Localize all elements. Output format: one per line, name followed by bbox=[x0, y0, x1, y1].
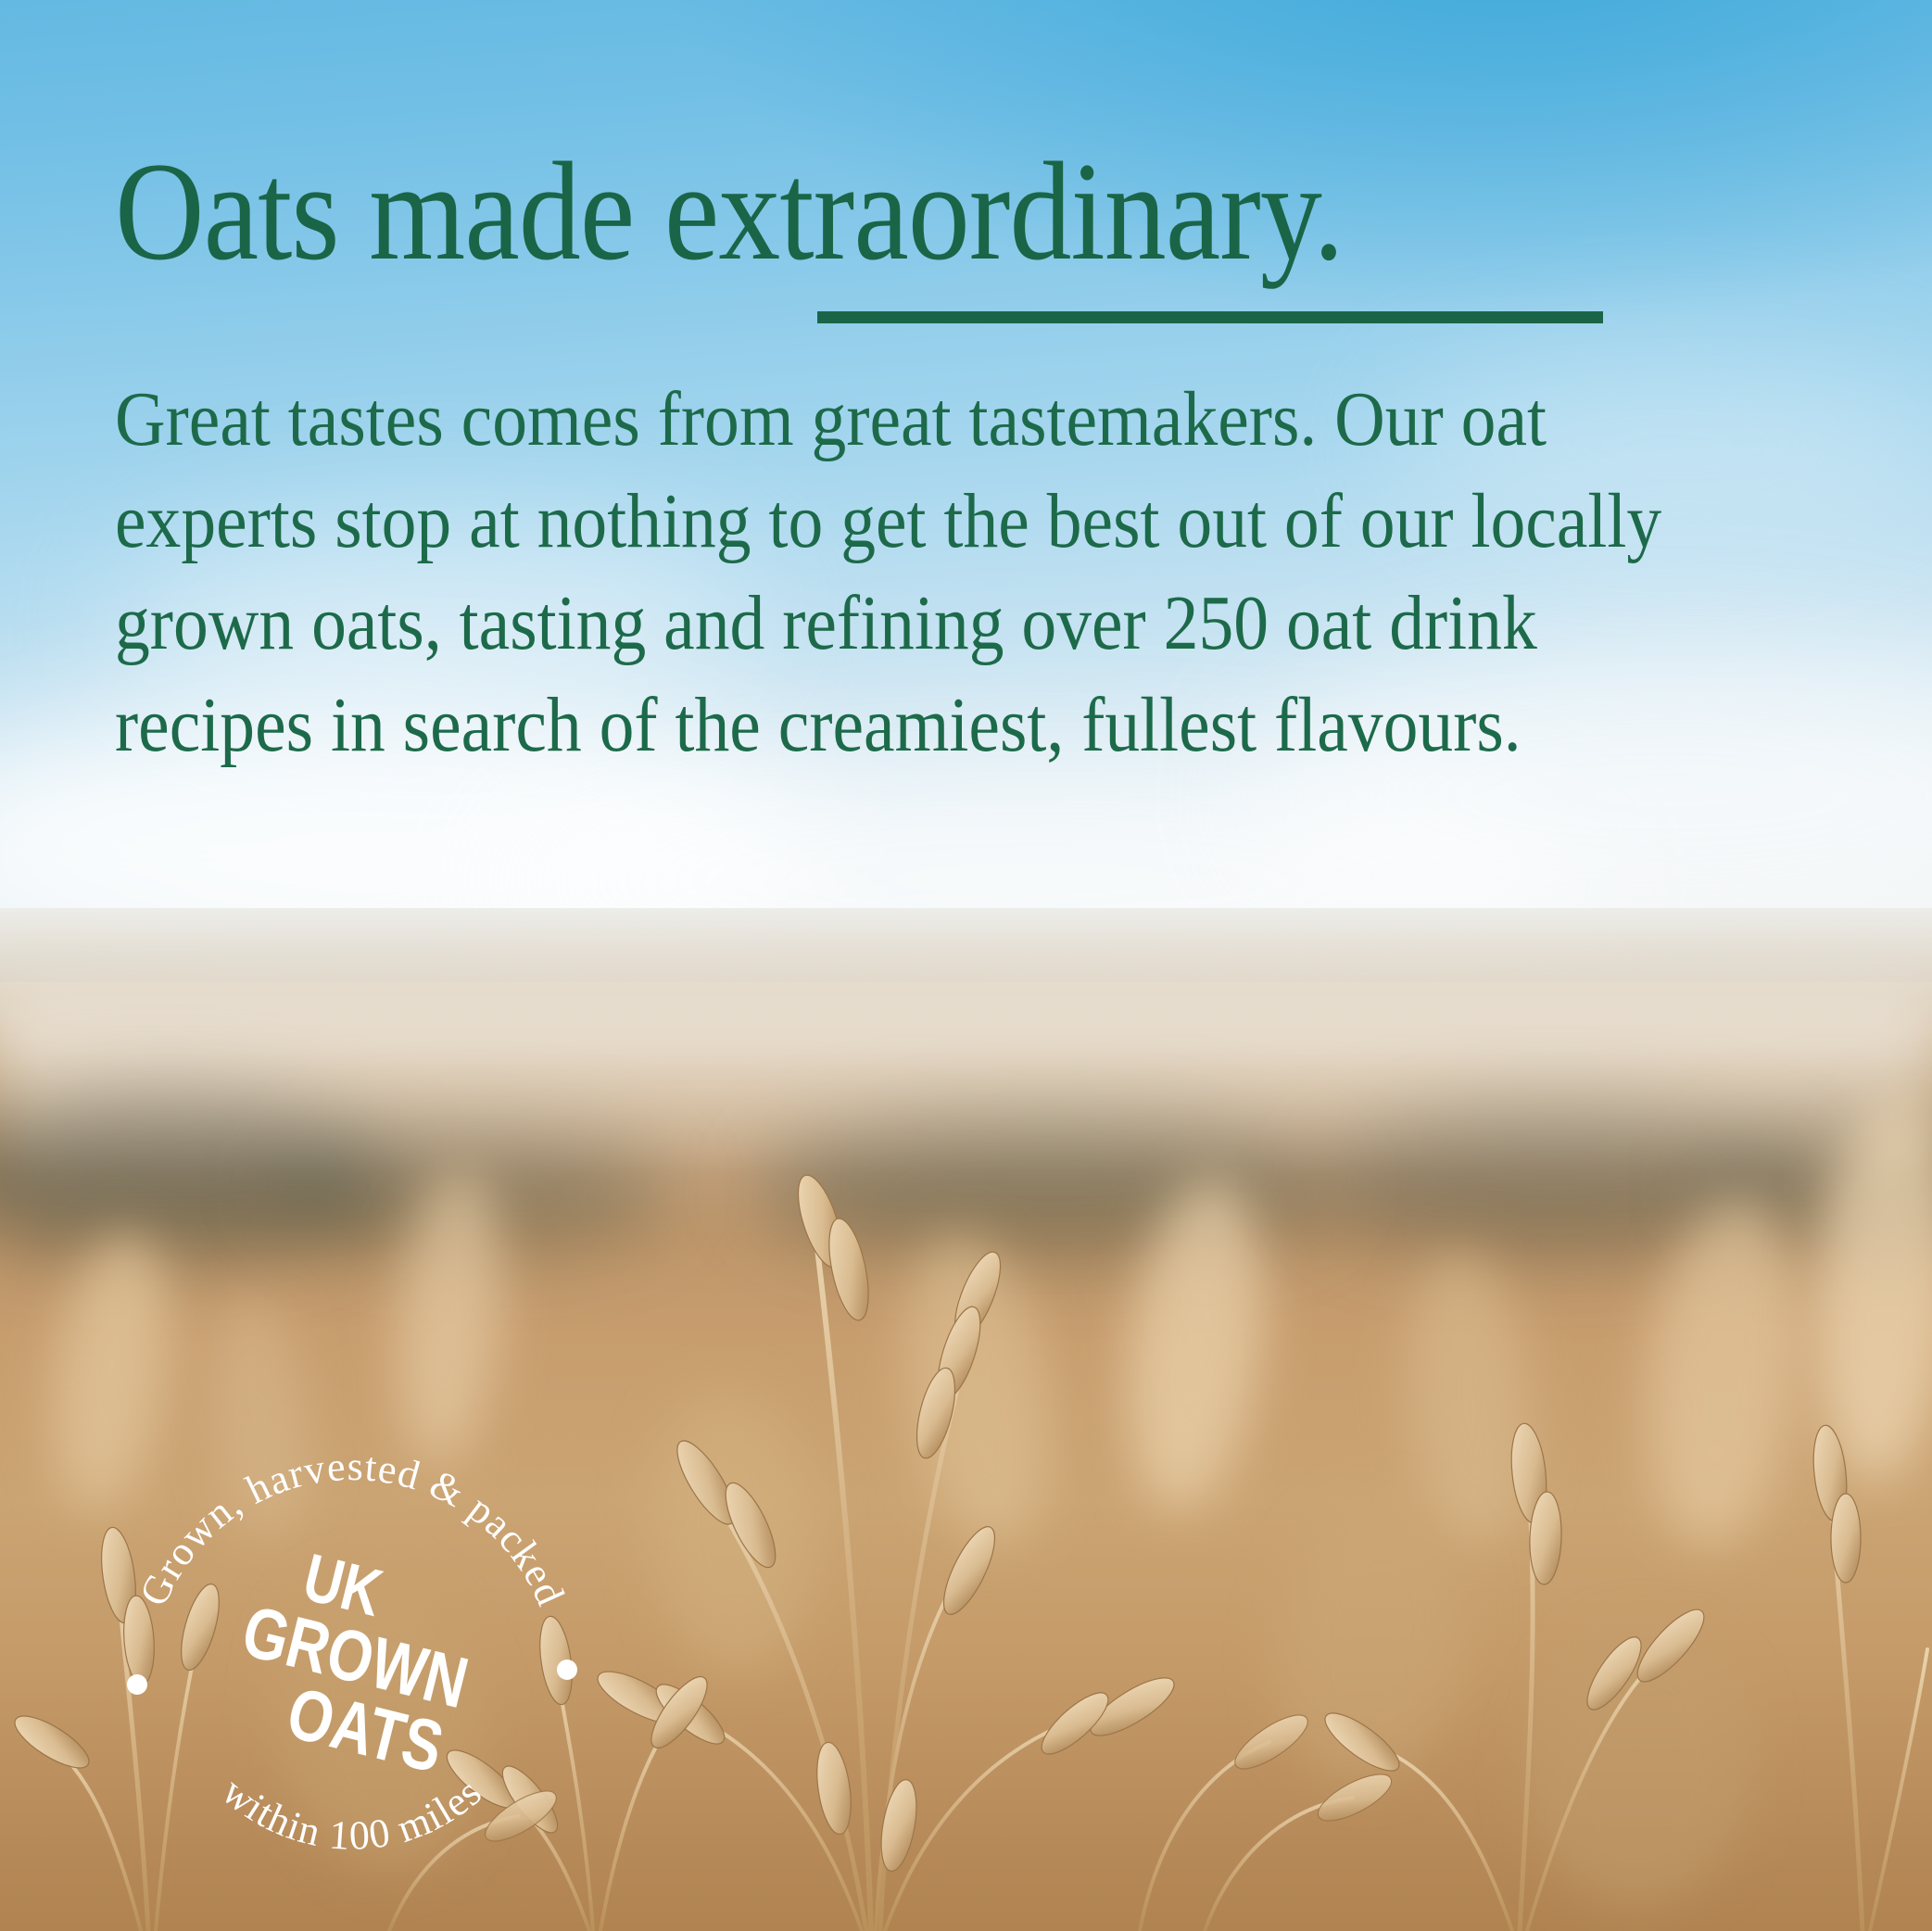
uk-grown-oats-badge: Grown, harvested & packed within 100 mil… bbox=[111, 1418, 593, 1899]
headline-part-1: Oats made bbox=[115, 133, 664, 289]
body-line: experts stop at nothing to get the best … bbox=[115, 471, 1683, 573]
headline-part-2-underlined: extraordinary bbox=[664, 133, 1313, 289]
headline-underline-rule bbox=[817, 311, 1603, 323]
body-line: grown oats, tasting and refining over 25… bbox=[115, 573, 1683, 675]
body-line: Great tastes comes from great tastemaker… bbox=[115, 369, 1683, 471]
body-line: recipes in search of the creamiest, full… bbox=[115, 675, 1683, 776]
poster-canvas: Oats made extraordinary. Great tastes co… bbox=[0, 0, 1932, 1931]
headline-part-3: . bbox=[1313, 133, 1344, 289]
page-title: Oats made extraordinary. bbox=[115, 141, 1615, 282]
body-copy: Great tastes comes from great tastemaker… bbox=[115, 369, 1683, 776]
